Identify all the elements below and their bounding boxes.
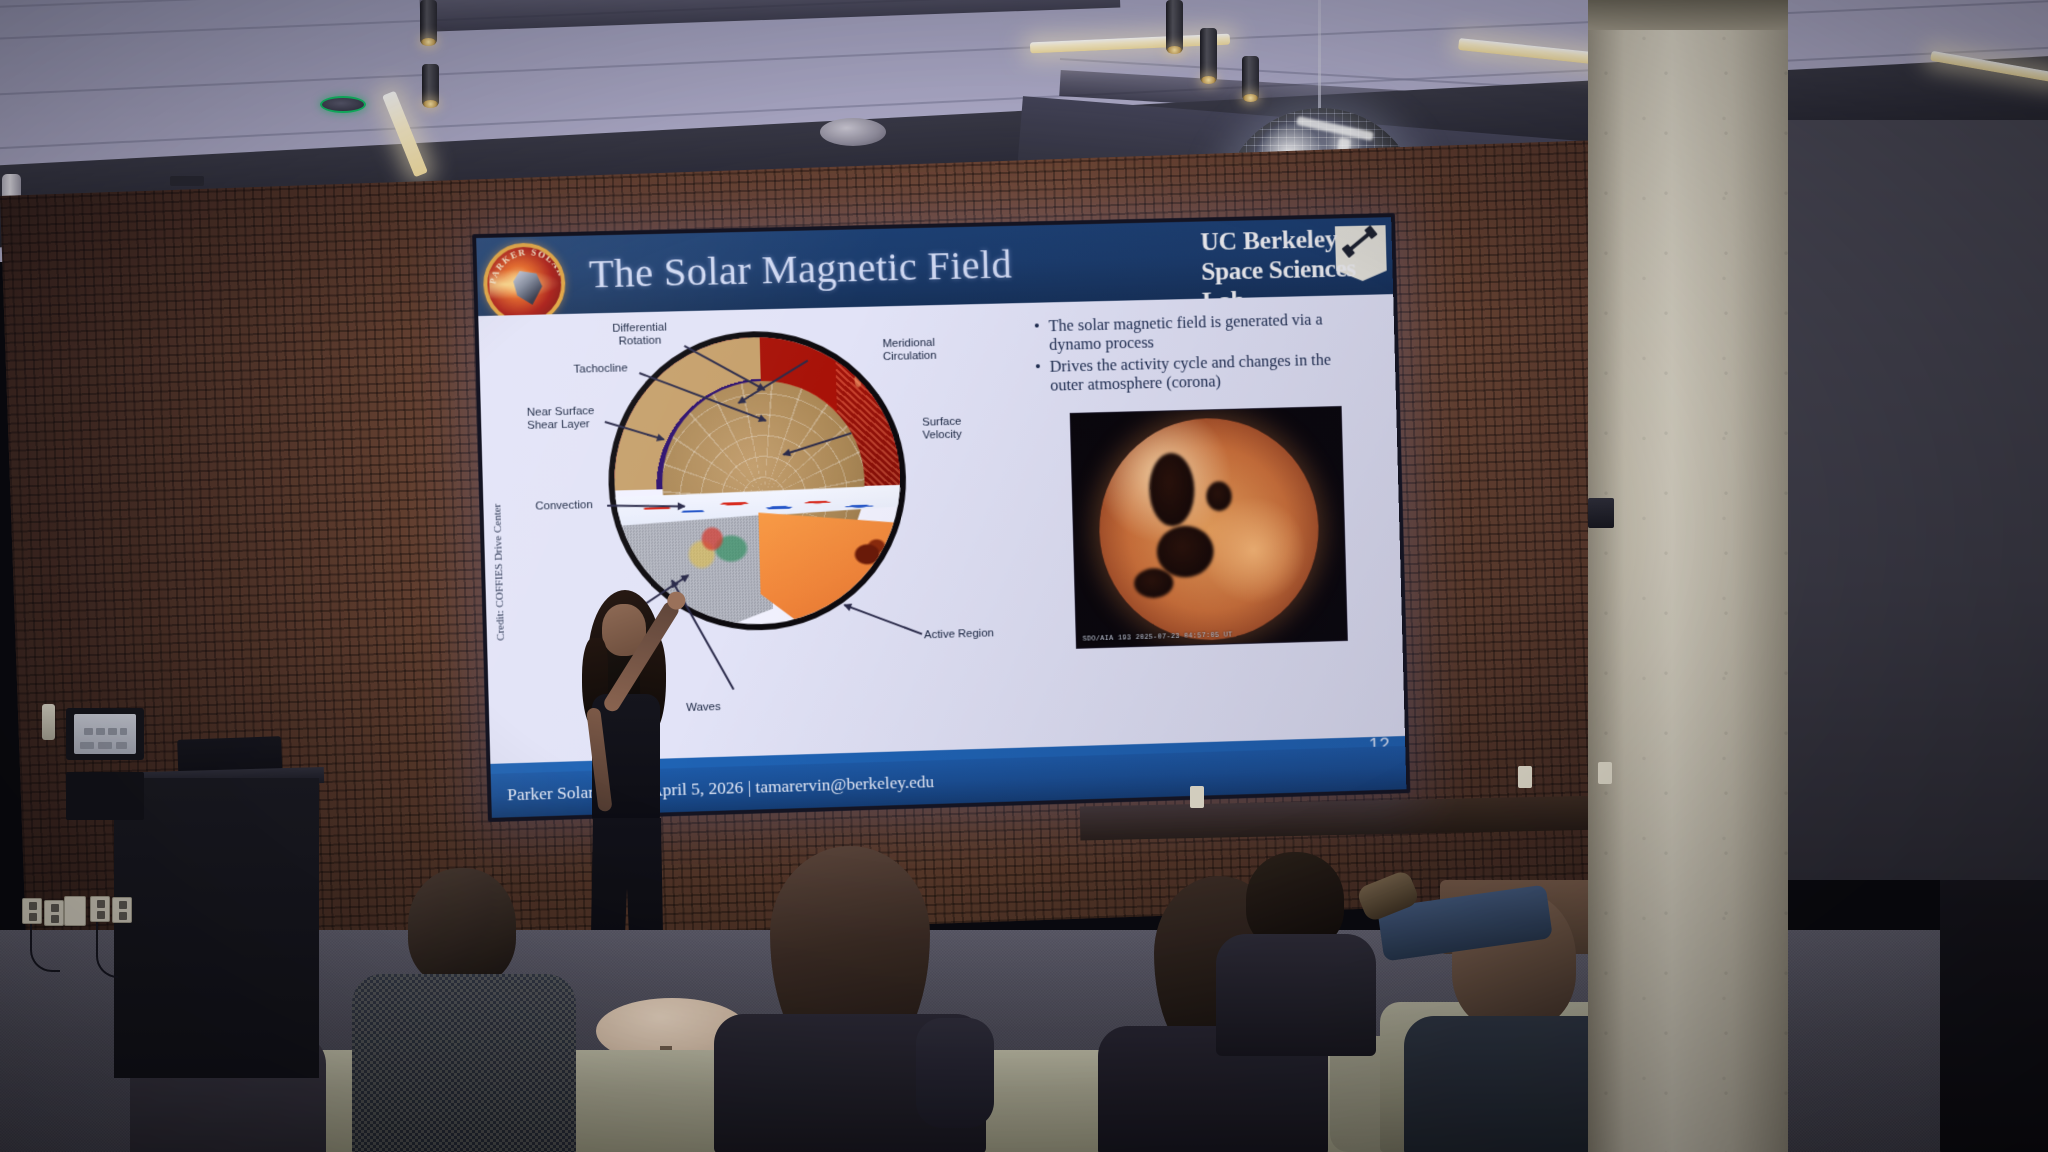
- power-outlet: [90, 896, 110, 922]
- wall-speaker: [1588, 498, 1614, 528]
- wall-jack-plate: [1190, 786, 1204, 808]
- wall-blank-plate: [66, 772, 144, 820]
- label-differential-rotation: Differential Rotation: [612, 322, 667, 349]
- light-switch-plate[interactable]: [64, 896, 86, 926]
- audience-member: [1216, 852, 1376, 1052]
- list-item: • Drives the activity cycle and changes …: [1035, 350, 1349, 395]
- bullet-marker-icon: •: [1034, 316, 1041, 354]
- power-outlet: [22, 898, 42, 924]
- sdo-caption: SDO/AIA 193 2025-07-23 04:57:05 UT: [1083, 631, 1233, 643]
- svg-text:PARKER SOLAR PROBE: PARKER SOLAR PROBE: [486, 246, 566, 290]
- power-outlet: [112, 897, 132, 923]
- slide-title: The Solar Magnetic Field: [588, 240, 1012, 298]
- right-wall: [1780, 120, 2048, 880]
- label-near-surface-shear-layer: Near Surface Shear Layer: [527, 405, 595, 433]
- projector-mount: [170, 176, 204, 186]
- audience-member: [1380, 872, 1580, 982]
- photosphere-wedge: [758, 508, 909, 634]
- diagram-credit: Credit: COFFIES Drive Center: [491, 503, 507, 640]
- sun-cutaway: [605, 328, 910, 635]
- bullet-text: Drives the activity cycle and changes in…: [1049, 350, 1348, 395]
- track-spotlight: [1200, 28, 1217, 82]
- ceiling-speaker: [820, 118, 886, 146]
- bullet-list: • The solar magnetic field is generated …: [1034, 309, 1349, 398]
- track-spotlight: [422, 64, 439, 106]
- label-tachocline: Tachocline: [573, 362, 627, 376]
- sdo-aia-image: SDO/AIA 193 2025-07-23 04:57:05 UT: [1070, 406, 1348, 649]
- wall-jack-plate: [1598, 762, 1612, 784]
- bullet-text: The solar magnetic field is generated vi…: [1048, 309, 1347, 354]
- label-surface-velocity: Surface Velocity: [922, 416, 962, 443]
- wall-av-touchpanel[interactable]: [66, 708, 144, 760]
- ucb-logo-line1: UC Berkeley: [1200, 224, 1338, 257]
- label-meridional-circulation: Meridional Circulation: [882, 337, 936, 364]
- audience-member: [700, 846, 990, 1152]
- room-scene: PARKER SOLAR PROBE The Solar Magnetic Fi…: [0, 0, 2048, 1152]
- sun-corona-image: [1096, 416, 1321, 644]
- smoke-detector-icon: [320, 96, 366, 113]
- track-spotlight: [1242, 56, 1259, 100]
- list-item: • The solar magnetic field is generated …: [1034, 309, 1348, 354]
- lectern: [114, 778, 319, 1078]
- power-outlet: [44, 900, 64, 926]
- audience-member: [352, 868, 576, 1152]
- bullet-marker-icon: •: [1035, 357, 1042, 395]
- disco-ball-cable: [1318, 0, 1321, 120]
- occupancy-sensor-icon: [42, 704, 55, 740]
- column-capital: [1588, 0, 1788, 30]
- track-spotlight: [420, 0, 437, 44]
- label-convection: Convection: [535, 499, 593, 514]
- uc-berkeley-ssl-logo: UC Berkeley Space Sciences Lab: [1196, 221, 1389, 297]
- concrete-column: [1588, 0, 1788, 1152]
- solar-interior-diagram: [605, 328, 910, 635]
- wall-jack-plate: [1518, 766, 1532, 788]
- track-spotlight: [1166, 0, 1183, 52]
- label-active-region: Active Region: [924, 627, 994, 642]
